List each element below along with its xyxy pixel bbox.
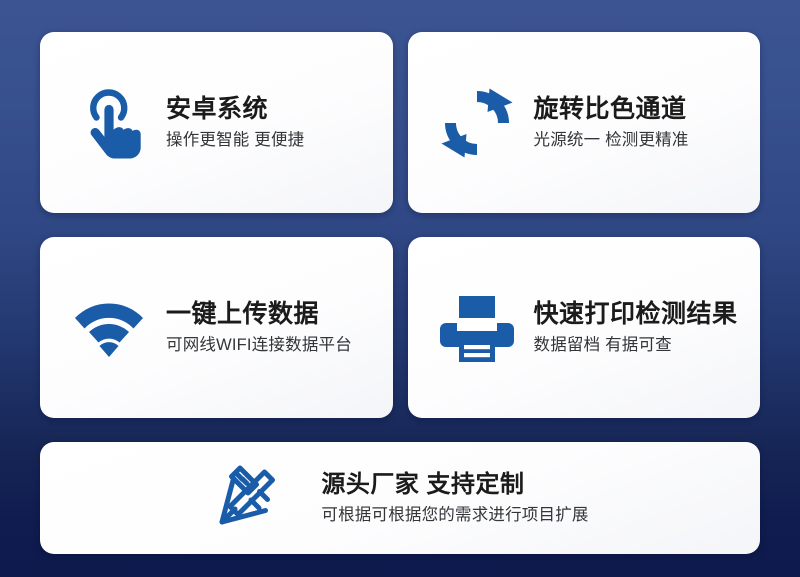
feature-text-block: 一键上传数据 可网线WIFI连接数据平台 — [166, 299, 352, 356]
feature-subtitle: 数据留档 有据可查 — [534, 335, 738, 356]
feature-card-rotating-colorimetric-channel[interactable]: 旋转比色通道 光源统一 检测更精准 — [408, 32, 761, 213]
feature-title: 源头厂家 支持定制 — [321, 470, 588, 499]
feature-row-1: 安卓系统 操作更智能 更便捷 旋转比色通道 光源统一 检测更精准 — [40, 32, 760, 213]
feature-row-2: 一键上传数据 可网线WIFI连接数据平台 快速打印检测结果 数据留档 有据可查 — [40, 237, 760, 418]
feature-row-3: 源头厂家 支持定制 可根据可根据您的需求进行项目扩展 — [40, 442, 760, 554]
wifi-icon — [66, 285, 152, 371]
feature-text-block: 安卓系统 操作更智能 更便捷 — [166, 94, 304, 151]
feature-title: 旋转比色通道 — [534, 94, 689, 125]
feature-subtitle: 光源统一 检测更精准 — [534, 130, 689, 151]
feature-card-fast-print-results[interactable]: 快速打印检测结果 数据留档 有据可查 — [408, 237, 761, 418]
feature-subtitle: 可网线WIFI连接数据平台 — [166, 335, 352, 356]
feature-title: 快速打印检测结果 — [534, 299, 738, 330]
pen-ruler-icon — [211, 460, 287, 536]
feature-card-android-system[interactable]: 安卓系统 操作更智能 更便捷 — [40, 32, 393, 213]
feature-subtitle: 可根据可根据您的需求进行项目扩展 — [321, 505, 588, 526]
feature-card-one-click-upload[interactable]: 一键上传数据 可网线WIFI连接数据平台 — [40, 237, 393, 418]
feature-title: 安卓系统 — [166, 94, 304, 125]
printer-icon — [434, 285, 520, 371]
feature-text-block: 快速打印检测结果 数据留档 有据可查 — [534, 299, 738, 356]
touch-hand-icon — [66, 80, 152, 166]
rotate-refresh-icon — [434, 80, 520, 166]
feature-text-block: 旋转比色通道 光源统一 检测更精准 — [534, 94, 689, 151]
feature-poster: 安卓系统 操作更智能 更便捷 旋转比色通道 光源统一 检测更精准 — [0, 0, 800, 577]
feature-title: 一键上传数据 — [166, 299, 352, 330]
feature-subtitle: 操作更智能 更便捷 — [166, 130, 304, 151]
feature-card-manufacturer-customization[interactable]: 源头厂家 支持定制 可根据可根据您的需求进行项目扩展 — [40, 442, 760, 554]
feature-text-block: 源头厂家 支持定制 可根据可根据您的需求进行项目扩展 — [321, 470, 588, 527]
